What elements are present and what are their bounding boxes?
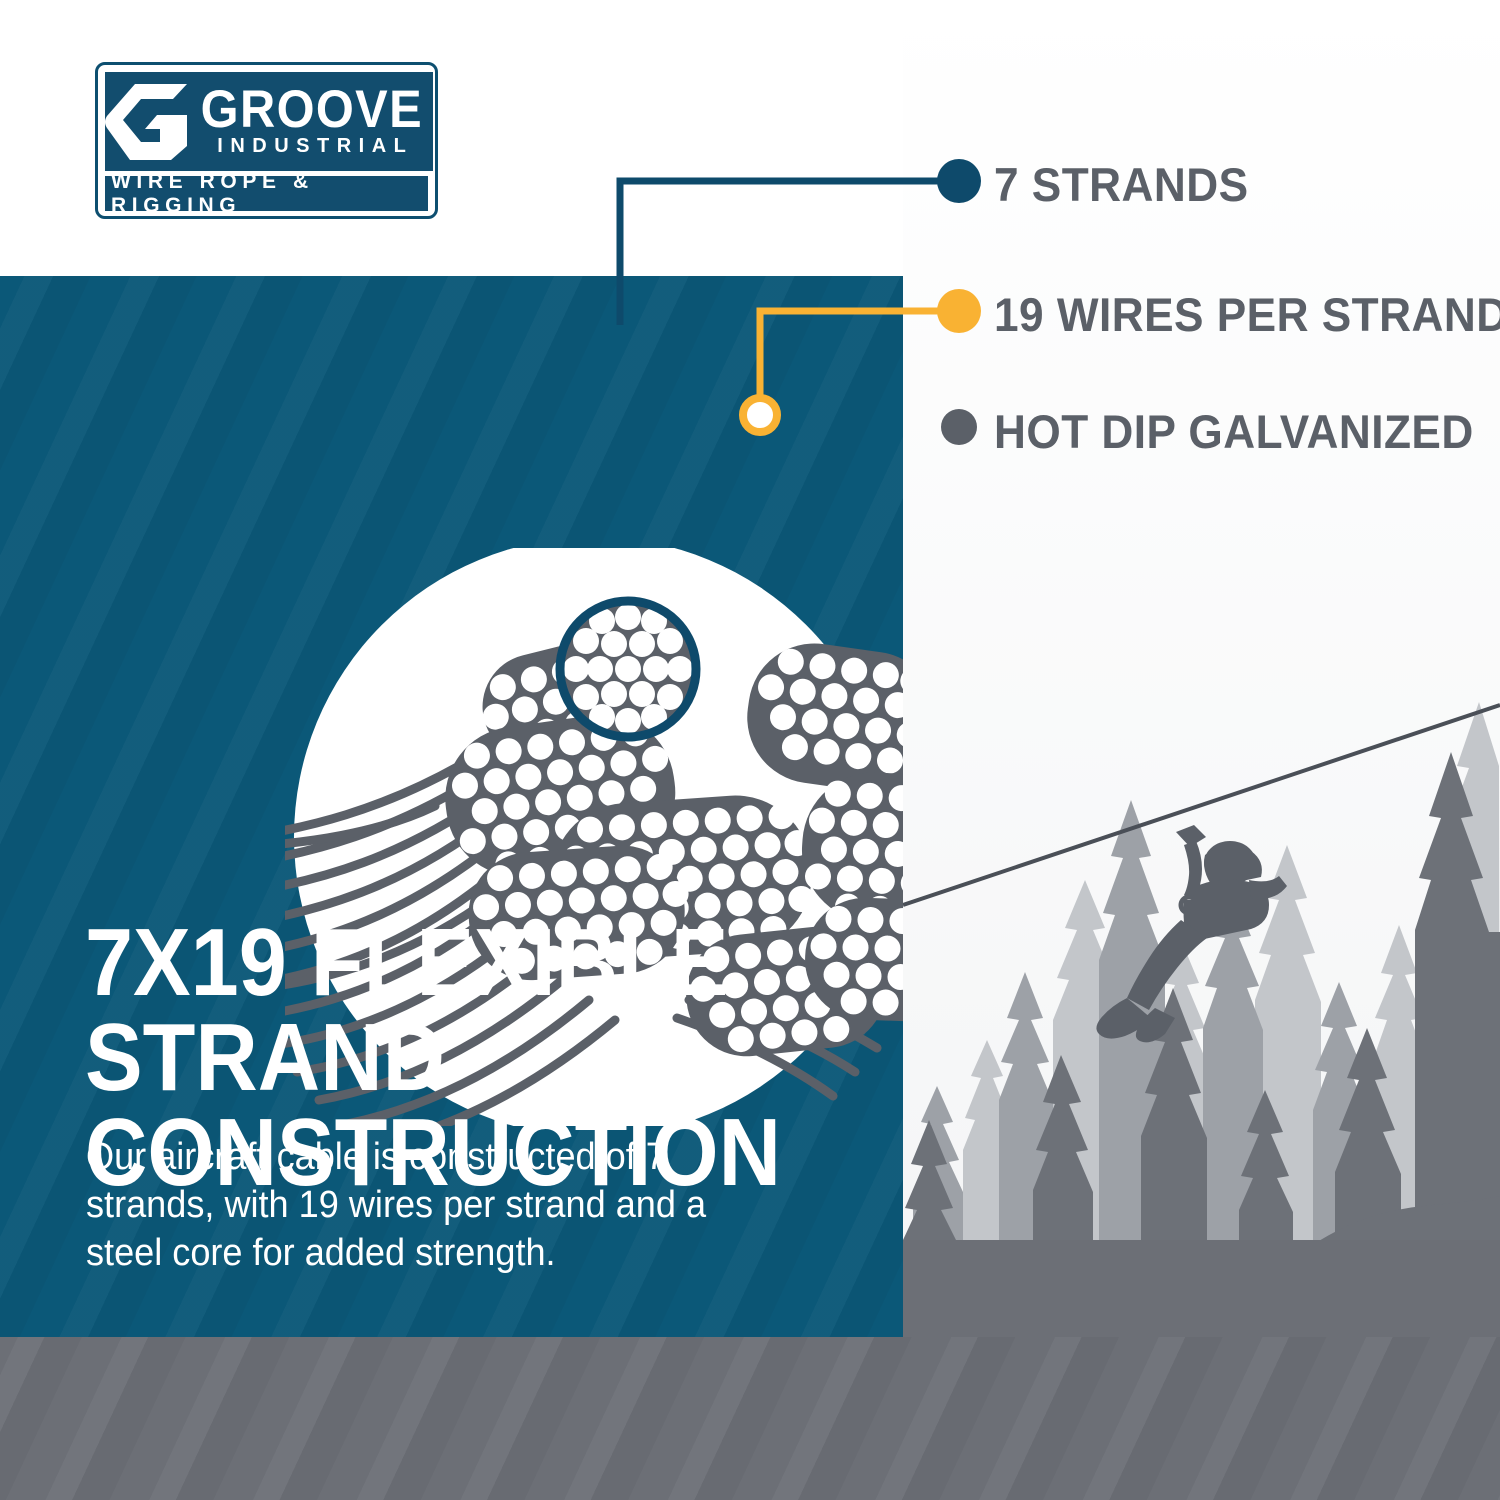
brand-logo: GROOVE INDUSTRIAL WIRE ROPE & RIGGING (95, 62, 438, 219)
strand-detail-circle (560, 601, 696, 737)
zipline-photo (903, 0, 1500, 1337)
logo-wordmark: GROOVE INDUSTRIAL (191, 72, 433, 171)
blue-content-panel: 7X19 FLEXIBLE STRAND CONSTRUCTION Our ai… (0, 276, 903, 1337)
logo-top-row: GROOVE INDUSTRIAL (105, 72, 428, 171)
photo-bottom-shadow (903, 1240, 1500, 1337)
zipline-scene-art (903, 0, 1500, 1337)
logo-tagline-bar: WIRE ROPE & RIGGING (105, 176, 428, 211)
logo-name-primary: GROOVE (201, 85, 423, 135)
logo-tagline: WIRE ROPE & RIGGING (105, 170, 428, 218)
bottom-grey-strip (0, 1337, 1500, 1500)
logo-inner: GROOVE INDUSTRIAL WIRE ROPE & RIGGING (105, 72, 428, 209)
infographic-canvas: GROOVE INDUSTRIAL WIRE ROPE & RIGGING (0, 0, 1500, 1500)
groove-g-monogram-icon (105, 72, 191, 171)
body-paragraph: Our aircraft cable is constructed of 7 s… (86, 1133, 751, 1277)
strip-stripe-texture (0, 1337, 1500, 1500)
headline-line-1: 7X19 FLEXIBLE (85, 909, 728, 1016)
